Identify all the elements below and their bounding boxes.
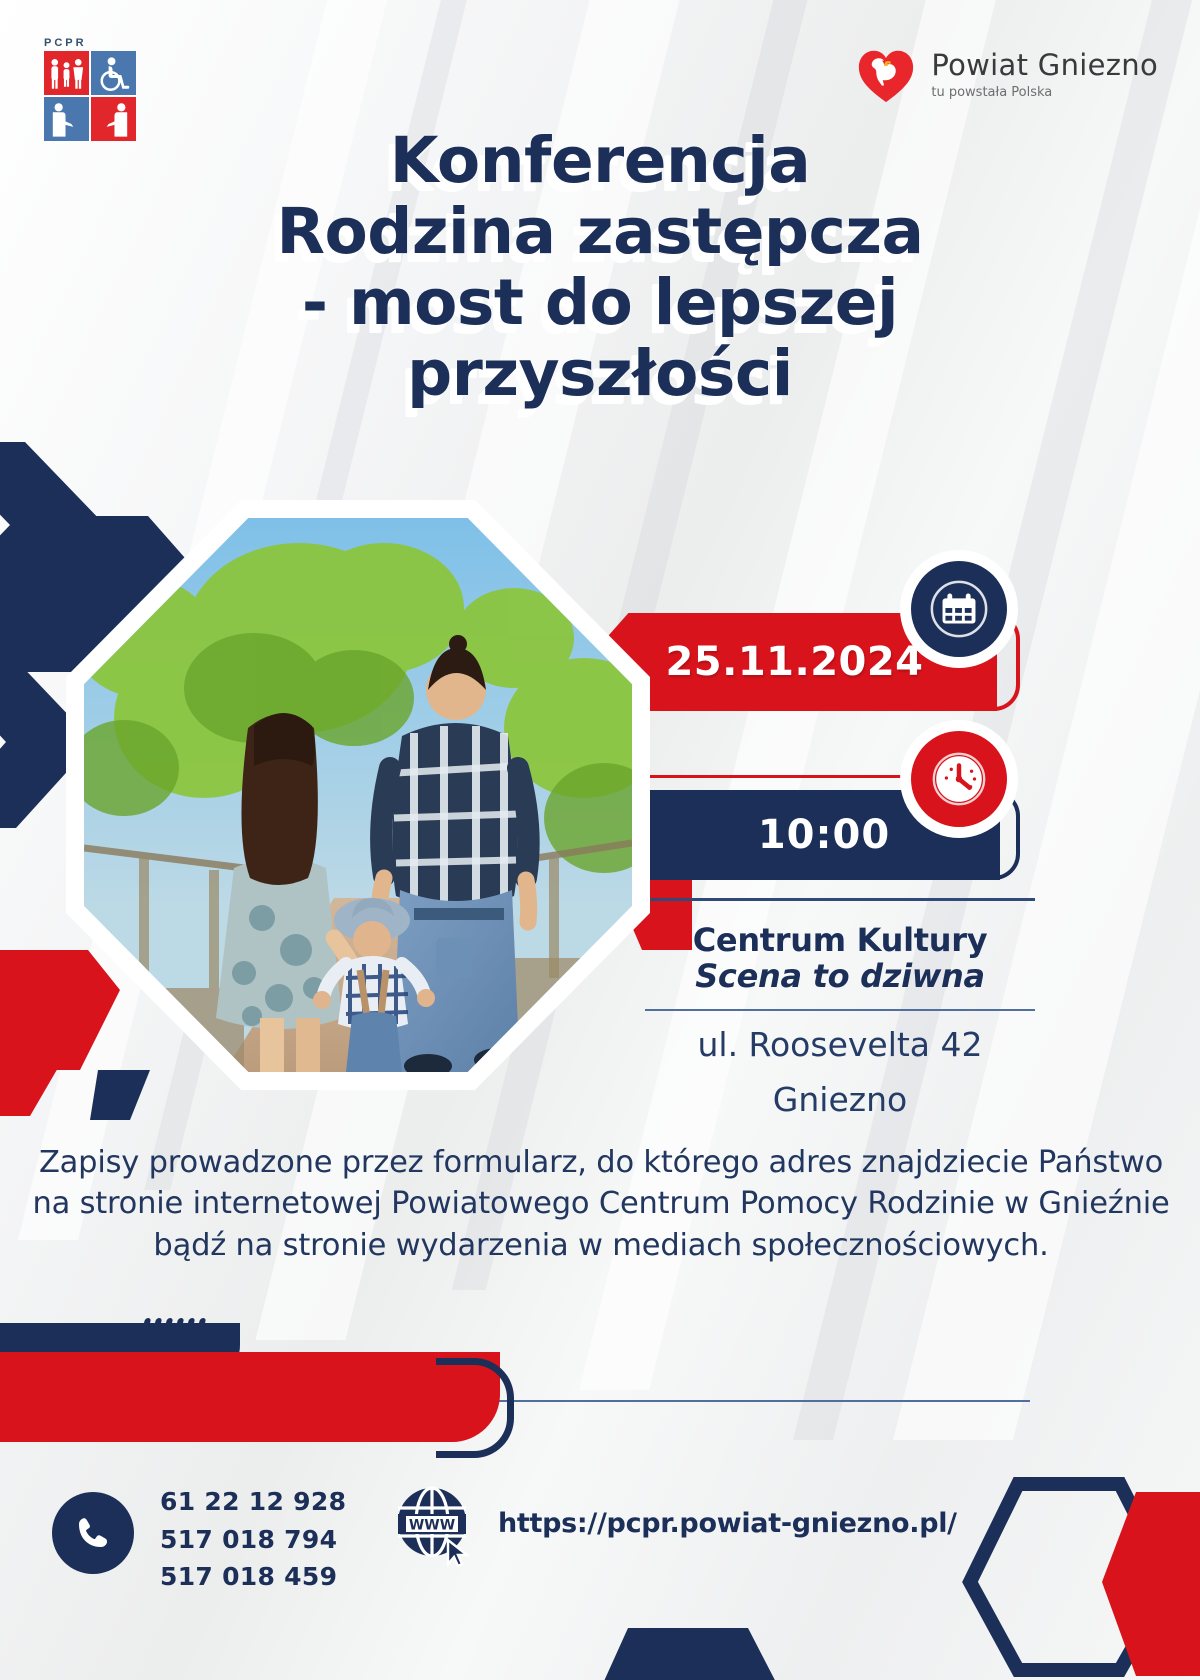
title-line-4: przyszłości bbox=[0, 339, 1200, 410]
venue-top-rule bbox=[645, 898, 1035, 901]
calendar-icon bbox=[911, 561, 1007, 657]
clock-icon bbox=[911, 731, 1007, 827]
venue-bottom-rule bbox=[645, 1009, 1035, 1011]
band-hook-decoration bbox=[436, 1358, 514, 1458]
footer-divider-rule bbox=[470, 1400, 1030, 1402]
bottom-red-band bbox=[0, 1352, 500, 1442]
website-url: https://pcpr.powiat-gniezno.pl/ bbox=[498, 1508, 957, 1539]
band-stripe-group bbox=[142, 1318, 203, 1344]
powiat-logo-tagline: tu powstała Polska bbox=[931, 86, 1158, 99]
poster-title: Konferencja Rodzina zastępcza - most do … bbox=[0, 126, 1200, 410]
venue-city: Gniezno bbox=[645, 1080, 1035, 1121]
phone-number: 61 22 12 928 bbox=[160, 1483, 346, 1521]
clock-badge bbox=[900, 720, 1018, 838]
globe-www-icon: WWW bbox=[388, 1478, 480, 1570]
pcpr-logo-grid bbox=[44, 51, 136, 129]
pcpr-logo-top-text: PCPR bbox=[44, 38, 144, 49]
powiat-logo-title: Powiat Gniezno bbox=[931, 51, 1158, 80]
title-line-3: - most do lepszej bbox=[0, 268, 1200, 339]
heart-eagle-icon bbox=[855, 44, 917, 106]
band-stripe bbox=[183, 1318, 195, 1344]
venue-subtitle: Scena to dziwna bbox=[645, 959, 1035, 995]
phone-number: 517 018 459 bbox=[160, 1558, 346, 1596]
calendar-badge bbox=[900, 550, 1018, 668]
family-walking-photo bbox=[84, 518, 632, 1072]
powiat-gniezno-logo: Powiat Gniezno tu powstała Polska bbox=[855, 42, 1158, 108]
svg-text:WWW: WWW bbox=[409, 1518, 455, 1534]
band-stripe bbox=[150, 1318, 162, 1344]
photo-frame bbox=[66, 500, 650, 1090]
title-line-1: Konferencja bbox=[0, 126, 1200, 197]
wheelchair-icon bbox=[91, 51, 136, 95]
venue-block: Centrum Kultury Scena to dziwna ul. Roos… bbox=[645, 898, 1035, 1120]
family-icon bbox=[44, 51, 89, 95]
band-stripe bbox=[161, 1318, 173, 1344]
phone-numbers: 61 22 12 928 517 018 794 517 018 459 bbox=[160, 1483, 346, 1596]
registration-paragraph: Zapisy prowadzone przez formularz, do kt… bbox=[26, 1142, 1176, 1266]
event-date: 25.11.2024 bbox=[665, 639, 923, 685]
poster-canvas: PCPR bbox=[0, 0, 1200, 1680]
bottom-navy-hex-decoration bbox=[600, 1620, 820, 1680]
venue-street: ul. Roosevelta 42 bbox=[645, 1025, 1035, 1066]
phone-icon bbox=[52, 1492, 134, 1574]
band-stripe bbox=[172, 1318, 184, 1344]
title-line-2: Rodzina zastępcza bbox=[0, 197, 1200, 268]
venue-name: Centrum Kultury bbox=[645, 923, 1035, 959]
event-time: 10:00 bbox=[758, 812, 890, 858]
bottom-right-decoration bbox=[960, 1470, 1200, 1680]
phone-number: 517 018 794 bbox=[160, 1521, 346, 1559]
